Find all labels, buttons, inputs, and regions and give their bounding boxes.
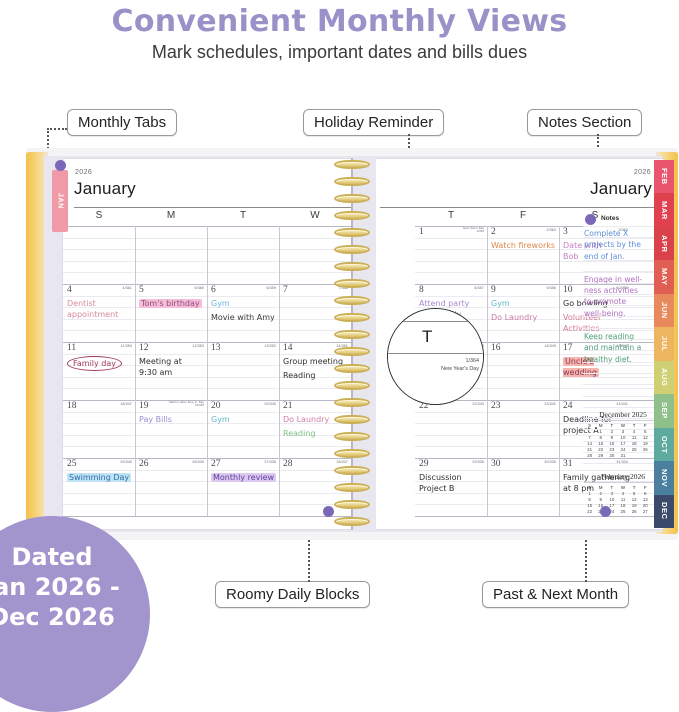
month-tab-label: FEB (654, 168, 674, 185)
spiral-coil (334, 296, 370, 305)
day-ordinal: 4/361 (123, 286, 133, 290)
day-number: 27 (211, 459, 221, 469)
magnifier-rule-top (388, 321, 484, 322)
month-tab-oct[interactable]: OCT (654, 428, 674, 461)
note-entry[interactable]: Engage in well- ness activities to promo… (584, 274, 662, 319)
day-meta: 30/335 (544, 460, 556, 464)
day-ordinal: 23/342 (544, 402, 556, 406)
spiral-coil (334, 483, 370, 492)
day-meta: 6/359 (267, 286, 277, 290)
day-number: 10 (563, 285, 573, 295)
day-entry[interactable]: Gym (211, 298, 230, 309)
grid-row-line (63, 516, 352, 517)
note-rule-line (583, 283, 662, 284)
day-number: 26 (139, 459, 149, 469)
month-tab-label: JUL (654, 336, 674, 352)
day-cell[interactable]: 55/360Tom's birthday (135, 284, 207, 342)
day-cell[interactable]: 66/359GymMovie with Amy (207, 284, 279, 342)
day-number: 4 (67, 285, 72, 295)
day-entry-circled: Family day (67, 356, 122, 371)
spiral-coil (334, 432, 370, 441)
day-meta: 11/354 (121, 344, 132, 348)
page-left-year: 2026 (75, 169, 92, 176)
spiral-coil (334, 364, 370, 373)
day-number: 18 (67, 401, 77, 411)
day-meta: 2/363 (547, 228, 557, 232)
day-number: 28 (283, 459, 293, 469)
day-ordinal: 8/357 (475, 286, 485, 290)
spiral-coil (334, 415, 370, 424)
day-cell[interactable]: 1212/353Meeting at 9:30 am (135, 342, 207, 400)
day-number: 31 (563, 459, 573, 469)
day-cell[interactable]: 2020/345Gym (207, 400, 279, 458)
day-cell[interactable]: 2323/342 (487, 400, 559, 458)
month-tab-label: APR (654, 235, 674, 253)
day-number: 23 (491, 401, 501, 411)
weekday-header-2: T (207, 207, 279, 224)
day-meta: 27/338 (264, 460, 276, 464)
spiral-coil (334, 381, 370, 390)
marker-dot-past-next-month (600, 506, 611, 517)
mini-calendar-day: · (640, 514, 651, 520)
month-tab-label: AUG (654, 368, 674, 386)
day-number: 16 (491, 343, 501, 353)
month-tab-jan-label: JAN (57, 193, 64, 209)
day-entry[interactable]: Discussion Project B (419, 472, 462, 494)
day-number: 5 (139, 285, 144, 295)
note-entry[interactable]: Keep reading and maintain a healthy diet… (584, 331, 662, 365)
day-ordinal: 27/338 (264, 460, 276, 464)
marker-dot-monthly-tabs (55, 160, 66, 171)
spiral-coil (334, 500, 370, 509)
month-tab-apr[interactable]: APR (654, 227, 674, 260)
day-meta: 8/357 (475, 286, 485, 290)
magnifier-day-meta: 1/364 (441, 357, 479, 365)
note-rule-line (583, 226, 662, 227)
month-tab-dec[interactable]: DEC (654, 495, 674, 528)
spiral-coil (334, 347, 370, 356)
day-entry[interactable]: Gym (491, 298, 510, 309)
day-number: 21 (283, 401, 293, 411)
mini-calendar-day: · (617, 514, 628, 520)
spiral-coil (334, 245, 370, 254)
day-cell[interactable]: 2222/343 (415, 400, 487, 458)
day-number: 14 (283, 343, 293, 353)
note-rule-line (583, 384, 662, 385)
mini-calendar-day: · (584, 514, 595, 520)
day-entry[interactable]: Meeting at 9:30 am (139, 356, 182, 378)
mini-calendar-day: · (629, 452, 640, 458)
spiral-coil (334, 466, 370, 475)
spiral-coil (334, 211, 370, 220)
day-number: 17 (563, 343, 573, 353)
day-meta: 12/353 (192, 344, 204, 348)
page-left-month: January (74, 179, 136, 199)
day-entry[interactable]: Tom's birthday (139, 298, 202, 309)
note-rule-line (583, 305, 662, 306)
spiral-coil (334, 177, 370, 186)
day-number: 24 (563, 401, 573, 411)
day-ordinal: 29/336 (472, 460, 484, 464)
day-ordinal: 9/356 (547, 286, 557, 290)
dated-range-badge: Dated Jan 2026 - Dec 2026 (0, 516, 150, 712)
page-title: Convenient Monthly Views (0, 4, 679, 39)
callout-past-next-month: Past & Next Month (482, 581, 629, 608)
day-meta: 5/360 (195, 286, 205, 290)
day-cell[interactable]: 19Martin Luther King Jr. Day19/346Pay Bi… (135, 400, 207, 458)
day-cell[interactable]: 1313/352 (207, 342, 279, 400)
day-ordinal: 12/353 (192, 344, 204, 348)
mini-calendar-day: 29 (595, 452, 606, 458)
day-cell[interactable] (63, 226, 135, 284)
callout-holiday-reminder: Holiday Reminder (303, 109, 444, 136)
weekday-header-4: T (415, 207, 487, 224)
day-ordinal: 6/359 (267, 286, 277, 290)
note-rule-line (583, 328, 662, 329)
day-ordinal: 5/360 (195, 286, 205, 290)
day-entry[interactable]: Monthly review (211, 472, 276, 483)
spiral-coil (334, 228, 370, 237)
magnifier-content: T 1/364 New Year's Day (388, 309, 484, 405)
day-meta: 16/349 (544, 344, 556, 348)
day-cell[interactable]: 99/356GymDo Laundry (487, 284, 559, 342)
day-ordinal: 30/335 (544, 460, 556, 464)
month-tab-mar[interactable]: MAR (654, 193, 674, 226)
weekday-header-1: M (135, 207, 207, 224)
dated-range-text: Dated Jan 2026 - Dec 2026 (0, 542, 150, 632)
day-entry[interactable]: Group meeting (283, 356, 343, 367)
day-cell[interactable] (135, 226, 207, 284)
mini-calendar-day: · (640, 452, 651, 458)
day-entry[interactable]: Pay Bills (139, 414, 172, 425)
mini-calendar-day: 30 (606, 452, 617, 458)
day-number: 30 (491, 459, 501, 469)
mini-calendar-day: · (629, 514, 640, 520)
weekday-header-0: S (63, 207, 135, 224)
day-number: 7 (283, 285, 288, 295)
month-tab-label: DEC (654, 502, 674, 520)
month-tab-label: JUN (654, 302, 674, 319)
day-entry[interactable]: Movie with Amy (211, 312, 275, 323)
day-entry[interactable]: Do Laundry (491, 312, 537, 323)
note-rule-line (583, 350, 662, 351)
day-meta: New Year's Day1/364 (463, 227, 484, 233)
day-ordinal: 20/345 (264, 402, 276, 406)
weekday-header-5: F (487, 207, 559, 224)
day-number: 13 (211, 343, 221, 353)
day-number: 19 (139, 401, 149, 411)
day-cell[interactable] (207, 226, 279, 284)
page-subtitle: Mark schedules, important dates and bill… (0, 42, 679, 63)
spiral-coil (334, 517, 370, 526)
day-entry[interactable]: Do Laundry (283, 414, 329, 425)
day-entry[interactable]: Reading (283, 370, 315, 381)
magnifier-rule-bottom (388, 353, 484, 354)
day-entry[interactable]: Swimming Day (67, 472, 131, 483)
mini-calendar: December 2025SMTWTFS·1234567891011121314… (584, 410, 662, 458)
day-cell[interactable]: 44/361Dentist appointment (63, 284, 135, 342)
day-ordinal: 19/346 (169, 404, 204, 407)
month-tab-feb[interactable]: FEB (654, 160, 674, 193)
day-entry-highlight: Swimming Day (67, 473, 131, 482)
month-tab-nov[interactable]: NOV (654, 461, 674, 494)
month-tab-aug[interactable]: AUG (654, 361, 674, 394)
callout-notes-section: Notes Section (527, 109, 642, 136)
note-rule-line (583, 407, 662, 408)
planner-spread: JAN 2026 January 2026 January SMTWTFS1Ne… (26, 148, 678, 544)
day-meta: 26/339 (192, 460, 204, 464)
day-entry[interactable]: Reading (283, 428, 315, 439)
day-cell[interactable]: 22/363Watch fireworks (487, 226, 559, 284)
spiral-coil (334, 313, 370, 322)
month-tab-jun[interactable]: JUN (654, 294, 674, 327)
spiral-coil (334, 279, 370, 288)
day-meta: 28/337 (336, 460, 348, 464)
note-rule-line (583, 316, 662, 317)
callout-roomy-daily-blocks: Roomy Daily Blocks (215, 581, 370, 608)
holiday-reminder-magnifier: T 1/364 New Year's Day (387, 308, 484, 405)
note-rule-line (583, 249, 662, 250)
day-cell[interactable]: 2525/340Swimming Day (63, 458, 135, 516)
day-number: 8 (419, 285, 424, 295)
day-meta: 9/356 (547, 286, 557, 290)
month-tab-label: MAR (654, 201, 674, 220)
note-rule-line (583, 362, 662, 363)
note-rule-line (583, 373, 662, 374)
day-cell[interactable]: 1111/354Family day (63, 342, 135, 400)
day-cell[interactable]: 1New Year's Day1/364 (415, 226, 487, 284)
day-entry[interactable]: Dentist appointment (67, 298, 118, 320)
mini-calendar-title: February 2026 (584, 472, 662, 483)
notes-heading: Notes (601, 215, 619, 222)
day-meta: 13/352 (264, 344, 276, 348)
magnifier-weekday: T (422, 327, 432, 347)
day-entry-highlight: Tom's birthday (139, 299, 202, 308)
day-entry-highlight: Monthly review (211, 473, 276, 482)
day-cell[interactable]: 2727/338Monthly review (207, 458, 279, 516)
day-cell[interactable]: 2929/336Discussion Project B (415, 458, 487, 516)
day-meta: 4/361 (123, 286, 133, 290)
day-meta: 18/347 (120, 402, 132, 406)
callout-monthly-tabs: Monthly Tabs (67, 109, 177, 136)
magnifier-meta: 1/364 New Year's Day (441, 357, 479, 373)
mini-calendar-day: 28 (584, 452, 595, 458)
month-tab-label: OCT (654, 436, 674, 454)
month-tab-jan[interactable]: JAN (52, 170, 68, 232)
note-rule-line (583, 271, 662, 272)
month-tab-jul[interactable]: JUL (654, 327, 674, 360)
day-number: 29 (419, 459, 429, 469)
day-number: 9 (491, 285, 496, 295)
day-ordinal: 11/354 (121, 344, 132, 348)
note-rule-line (583, 396, 662, 397)
day-cell[interactable]: 1818/347 (63, 400, 135, 458)
month-tab-label: SEP (654, 402, 674, 419)
day-meta: Martin Luther King Jr. Day19/346 (169, 401, 204, 407)
day-ordinal: 2/363 (547, 228, 557, 232)
day-entry[interactable]: Gym (211, 414, 230, 425)
day-meta: 23/342 (544, 402, 556, 406)
mini-calendar-title: December 2025 (584, 410, 662, 421)
spiral-coil (334, 194, 370, 203)
note-rule-line (583, 237, 662, 238)
spiral-coil (334, 262, 370, 271)
note-entry[interactable]: Complete X projects by the end of Jan. (584, 228, 662, 262)
month-tab-label: NOV (654, 469, 674, 487)
note-rule-line (583, 260, 662, 261)
magnifier-holiday: New Year's Day (441, 365, 479, 373)
day-number: 3 (563, 227, 568, 237)
marker-dot-daily-blocks (323, 506, 334, 517)
day-ordinal: 1/364 (463, 230, 484, 233)
month-tab-label: MAY (654, 268, 674, 286)
day-ordinal: 28/337 (336, 460, 348, 464)
spiral-coil (334, 330, 370, 339)
day-meta: 29/336 (472, 460, 484, 464)
callout-leader-monthly-tabs-h (47, 128, 67, 130)
day-ordinal: 16/349 (544, 344, 556, 348)
month-tab-sep[interactable]: SEP (654, 394, 674, 427)
day-number: 6 (211, 285, 216, 295)
day-cell[interactable]: 1616/349 (487, 342, 559, 400)
day-number: 2 (491, 227, 496, 237)
notes-bullet-icon (585, 214, 596, 225)
day-number: 1 (419, 227, 424, 237)
day-meta: 20/345 (264, 402, 276, 406)
note-rule-line (583, 463, 662, 464)
spiral-coil (334, 398, 370, 407)
day-ordinal: 13/352 (264, 344, 276, 348)
day-entry[interactable]: Family day (67, 356, 122, 371)
day-cell[interactable]: 3030/335 (487, 458, 559, 516)
day-ordinal: 26/339 (192, 460, 204, 464)
month-tabs-strip[interactable]: FEBMARAPRMAYJUNJULAUGSEPOCTNOVDEC (654, 160, 674, 528)
month-tab-may[interactable]: MAY (654, 260, 674, 293)
mini-calendar-day: 31 (617, 452, 628, 458)
spiral-coil (334, 160, 370, 169)
day-number: 12 (139, 343, 149, 353)
day-cell[interactable]: 2626/339 (135, 458, 207, 516)
mini-calendar: February 2026SMTWTFS12345678910111213141… (584, 472, 662, 520)
note-rule-line (583, 339, 662, 340)
note-rule-line (583, 294, 662, 295)
day-meta: 25/340 (120, 460, 132, 464)
day-entry[interactable]: Watch fireworks (491, 240, 555, 251)
day-number: 11 (67, 343, 76, 353)
day-number: 20 (211, 401, 221, 411)
day-number: 25 (67, 459, 77, 469)
day-ordinal: 18/347 (120, 402, 132, 406)
notes-section: Notes Complete X projects by the end of … (581, 158, 664, 530)
spiral-coil (334, 449, 370, 458)
day-ordinal: 25/340 (120, 460, 132, 464)
